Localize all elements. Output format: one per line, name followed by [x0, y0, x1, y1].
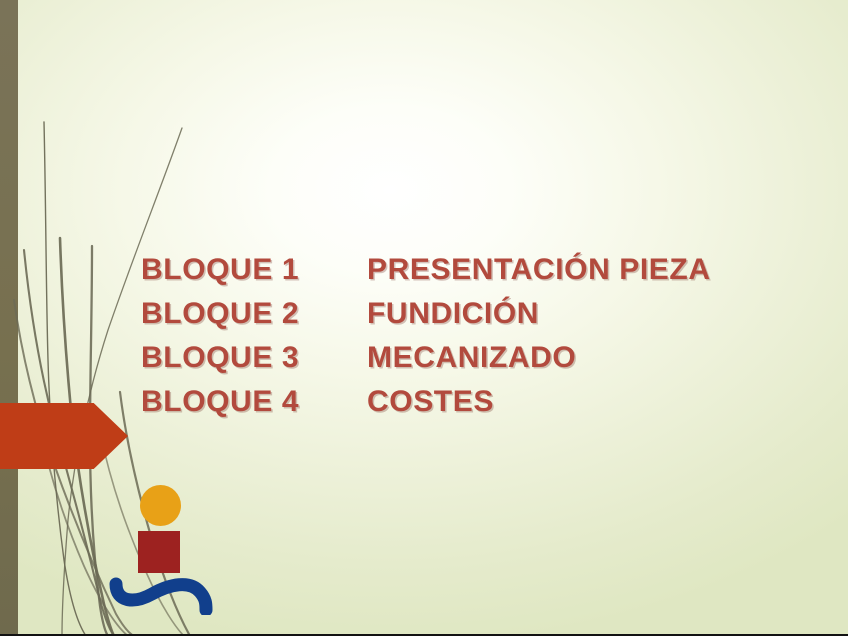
orange-circle [140, 485, 181, 526]
list-item: BLOQUE 3MECANIZADO [141, 336, 831, 380]
red-arrow-banner [0, 403, 128, 469]
dark-red-square [138, 531, 180, 573]
bloque-value-4: COSTES [367, 380, 494, 424]
list-item: BLOQUE 2FUNDICIÓN [141, 292, 831, 336]
bloque-label-1: BLOQUE 1 [141, 248, 367, 292]
bloque-label-4: BLOQUE 4 [141, 380, 367, 424]
list-item: BLOQUE 1PRESENTACIÓN PIEZA [141, 248, 831, 292]
presentation-slide: BLOQUE 1PRESENTACIÓN PIEZA BLOQUE 2FUNDI… [0, 0, 848, 636]
list-item: BLOQUE 4COSTES [141, 380, 831, 424]
agenda-list: BLOQUE 1PRESENTACIÓN PIEZA BLOQUE 2FUNDI… [141, 248, 831, 424]
bloque-label-3: BLOQUE 3 [141, 336, 367, 380]
blue-wave-icon [108, 570, 218, 615]
bloque-value-1: PRESENTACIÓN PIEZA [367, 248, 711, 292]
bloque-value-3: MECANIZADO [367, 336, 576, 380]
bloque-value-2: FUNDICIÓN [367, 292, 539, 336]
bloque-label-2: BLOQUE 2 [141, 292, 367, 336]
left-olive-stripe [0, 0, 18, 636]
